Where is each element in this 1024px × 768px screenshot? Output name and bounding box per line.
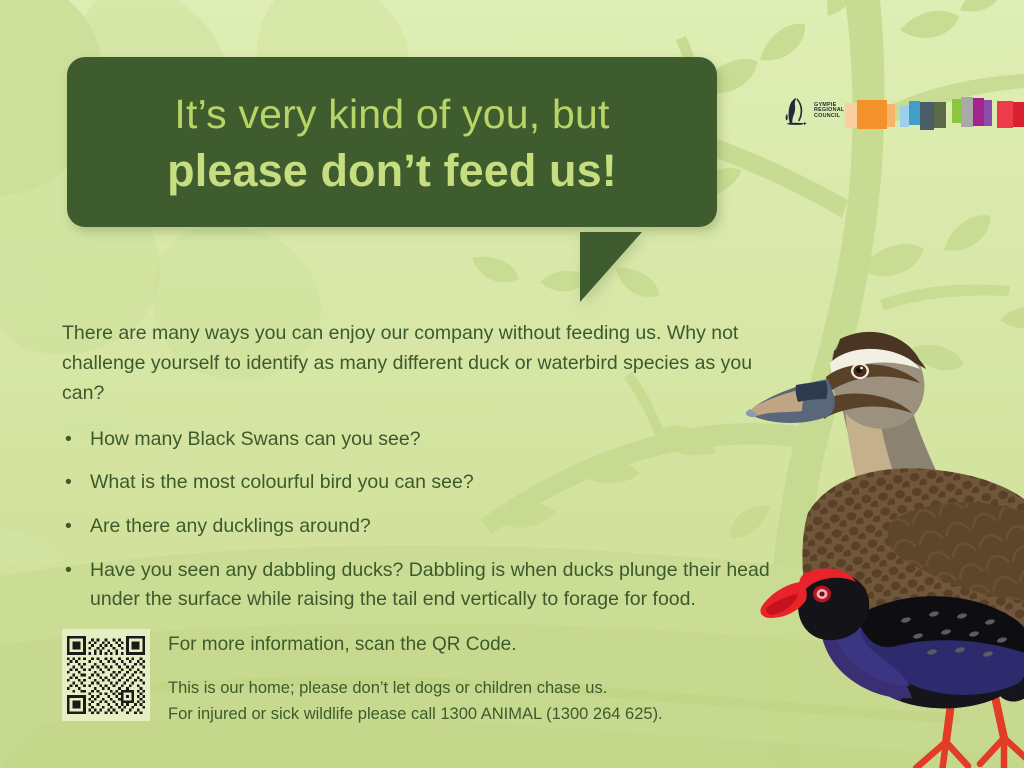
headline-line-2: please don’t feed us! [87, 144, 697, 197]
swatch-violet [984, 100, 992, 126]
swatch-crimson [1013, 102, 1024, 127]
qr-note-line-1: This is our home; please don’t let dogs … [168, 675, 663, 702]
purple-swamphen-illustration [756, 546, 1024, 768]
swatch-grey [961, 97, 973, 127]
body-copy: There are many ways you can enjoy our co… [62, 318, 777, 629]
list-item: • What is the most colourful bird you ca… [62, 468, 777, 498]
swatch-red [997, 101, 1013, 128]
bullet-glyph: • [65, 512, 72, 542]
list-item: • How many Black Swans can you see? [62, 425, 777, 455]
swatch-orange [857, 100, 887, 129]
list-item: • Have you seen any dabbling ducks? Dabb… [62, 556, 774, 615]
bullet-glyph: • [65, 468, 72, 498]
qr-heading: For more information, scan the QR Code. [168, 633, 663, 658]
qr-text-group: For more information, scan the QR Code. … [168, 629, 663, 728]
bullet-glyph: • [65, 556, 72, 586]
poster-canvas: It’s very kind of you, but please don’t … [0, 0, 1024, 768]
list-item-text: Have you seen any dabbling ducks? Dabbli… [90, 559, 770, 611]
swatch-gap-2 [946, 97, 952, 98]
swatch-green [952, 99, 961, 123]
bullet-glyph: • [65, 425, 72, 455]
list-item-text: Are there any ducklings around? [90, 515, 371, 537]
swatch-orange-pale [887, 104, 895, 127]
qr-note-line-2: For injured or sick wildlife please call… [168, 701, 663, 728]
list-item: • Are there any ducklings around? [62, 512, 777, 542]
qr-information-block: For more information, scan the QR Code. … [62, 629, 663, 728]
speech-bubble-tail [580, 232, 642, 302]
swatch-peach [845, 103, 857, 128]
swatch-magenta [973, 98, 984, 126]
swatch-blue [909, 101, 920, 125]
logo-line-3: COUNCIL [814, 114, 844, 120]
list-item-text: What is the most colourful bird you can … [90, 471, 474, 493]
swatch-lightblue [900, 105, 909, 127]
pelican-reed-logo-icon [783, 96, 809, 126]
question-list: • How many Black Swans can you see? • Wh… [62, 425, 777, 615]
logo-colour-swatches [845, 97, 1024, 131]
intro-paragraph: There are many ways you can enjoy our co… [62, 318, 777, 409]
swatch-slate [920, 102, 934, 130]
qr-code-icon[interactable] [62, 629, 150, 721]
list-item-text: How many Black Swans can you see? [90, 428, 421, 450]
swatch-gap-1 [895, 97, 900, 98]
logo-wordmark: GYMPIE REGIONAL COUNCIL [814, 103, 844, 120]
headline-line-1: It’s very kind of you, but [87, 91, 697, 138]
swatch-gap-3 [992, 97, 997, 98]
swatch-olive [934, 102, 946, 128]
gympie-regional-council-logo: GYMPIE REGIONAL COUNCIL [783, 96, 844, 126]
speech-bubble: It’s very kind of you, but please don’t … [67, 57, 717, 227]
